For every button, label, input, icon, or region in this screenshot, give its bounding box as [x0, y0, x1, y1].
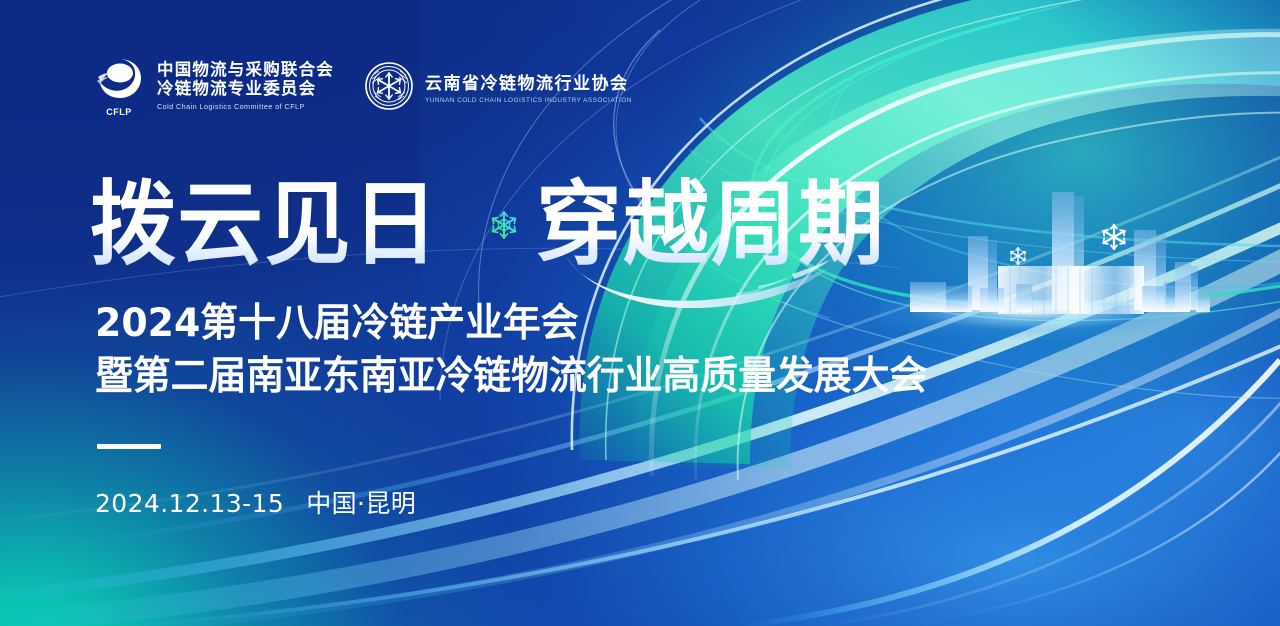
subtitle-line-2: 暨第二届南亚东南亚冷链物流行业高质量发展大会: [95, 354, 927, 400]
yunnan-name-group: 云南省冷链物流行业协会 YUNNAN COLD CHAIN LOGISTICS …: [425, 69, 632, 104]
snowflake-seal-icon: [364, 61, 414, 111]
headline-part-1: 拨云见日: [90, 173, 440, 277]
logo-bar: CFLP 中国物流与采购联合会 冷链物流专业委员会 Cold Chain Log…: [92, 55, 632, 117]
snowflake-icon: [1103, 225, 1124, 249]
snowflake-separator-icon: [488, 209, 520, 241]
cflp-name-line1: 中国物流与采购联合会: [157, 61, 334, 80]
cflp-globe-icon: CFLP: [92, 55, 146, 117]
cflp-wordmark: CFLP: [92, 107, 146, 117]
yunnan-name-english: YUNNAN COLD CHAIN LOGISTICS INDUSTRY ASS…: [425, 97, 632, 104]
cflp-name-english: Cold Chain Logistics Committee of CFLP: [157, 102, 334, 111]
yunnan-name-chinese: 云南省冷链物流行业协会: [425, 69, 632, 94]
divider-rule: [97, 444, 161, 449]
event-meta: 2024.12.13-15 中国·昆明: [95, 484, 416, 520]
event-location: 中国·昆明: [306, 484, 416, 520]
cflp-name-line2: 冷链物流专业委员会: [157, 80, 334, 99]
subtitle-line-1: 2024第十八届冷链产业年会: [95, 301, 579, 347]
headline-part-2: 穿越周期: [536, 173, 886, 277]
headline: 拨云见日 穿越周期: [90, 165, 912, 285]
logo-yunnan-association: 云南省冷链物流行业协会 YUNNAN COLD CHAIN LOGISTICS …: [364, 61, 632, 111]
cflp-name-group: 中国物流与采购联合会 冷链物流专业委员会 Cold Chain Logistic…: [157, 61, 334, 111]
conference-banner: CFLP 中国物流与采购联合会 冷链物流专业委员会 Cold Chain Log…: [0, 0, 1280, 626]
logo-cflp: CFLP 中国物流与采购联合会 冷链物流专业委员会 Cold Chain Log…: [92, 55, 334, 117]
snowflake-icon: [1011, 248, 1026, 265]
cityscape-skyline-icon: [860, 170, 1280, 350]
event-date: 2024.12.13-15: [95, 489, 284, 518]
